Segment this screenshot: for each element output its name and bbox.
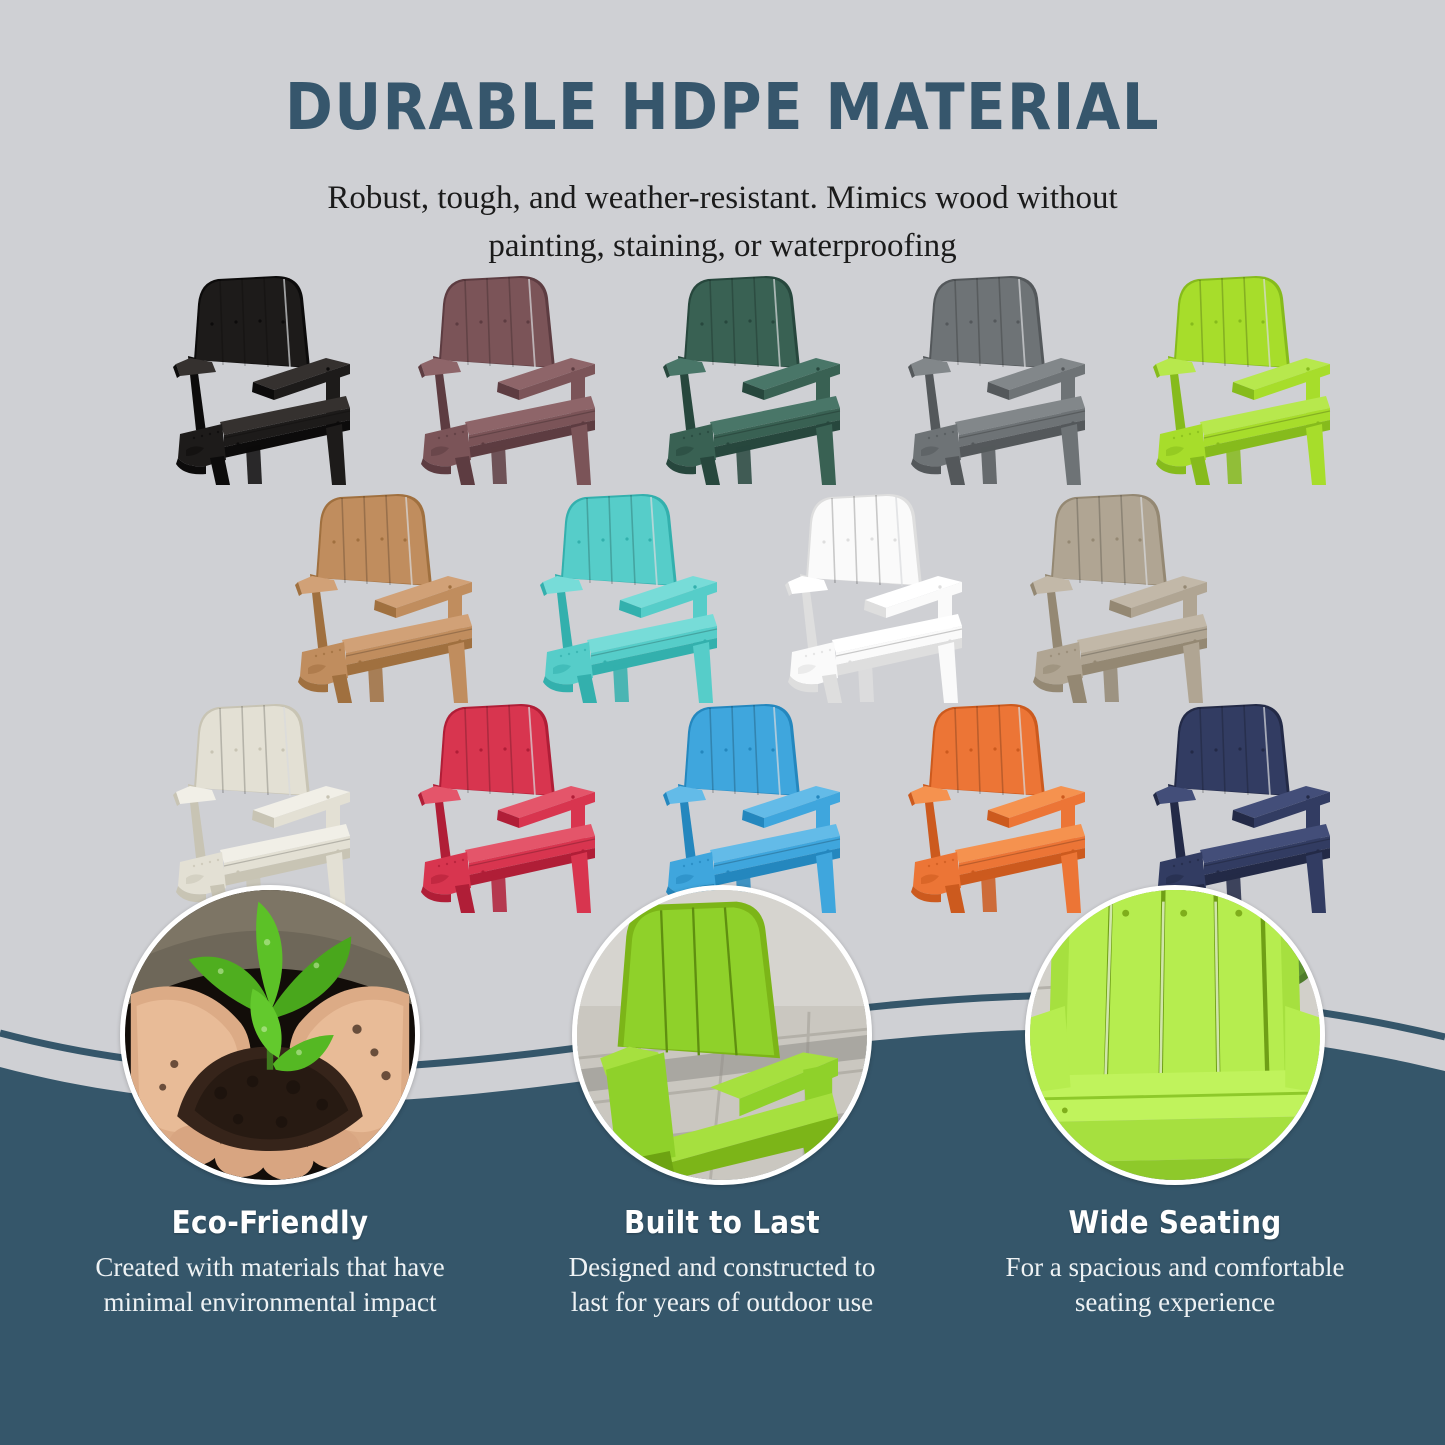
swatch-row-2 <box>0 490 1445 695</box>
chair-swatch-orange[interactable] <box>885 700 1130 915</box>
chair-swatch-ivory[interactable] <box>150 700 395 915</box>
swatch-row-1 <box>0 272 1445 487</box>
hands-holding-seedling-photo <box>125 890 415 1180</box>
feature-description-1: Created with materials that have minimal… <box>60 1250 480 1320</box>
feature-highlights: Eco-Friendly Created with materials that… <box>0 885 1445 1445</box>
subtitle-line-2: painting, staining, or waterproofing <box>223 223 1223 271</box>
feature-desc-line-2-2: last for years of outdoor use <box>530 1285 914 1320</box>
chair-illustration-crimson-red <box>395 700 640 915</box>
chair-swatch-weathered-taupe[interactable] <box>1007 490 1252 705</box>
chair-swatch-crimson-red[interactable] <box>395 700 640 915</box>
chair-illustration-weathered-taupe <box>1007 490 1252 705</box>
feature-desc-line-1-3: For a spacious and comfortable <box>983 1250 1367 1285</box>
chair-swatch-dark-green[interactable] <box>640 272 885 487</box>
lime-chair-on-patio-photo <box>577 890 867 1180</box>
chair-illustration-orange <box>885 700 1130 915</box>
feature-image-1 <box>120 885 420 1185</box>
chair-swatch-navy-blue[interactable] <box>1130 700 1375 915</box>
feature-desc-line-2-1: minimal environmental impact <box>78 1285 462 1320</box>
chair-illustration-gray <box>885 272 1130 487</box>
chair-swatch-turquoise[interactable] <box>517 490 762 705</box>
chair-illustration-navy-blue <box>1130 700 1375 915</box>
chair-illustration-ivory <box>150 700 395 915</box>
feature-title-1: Eco-Friendly <box>60 1205 480 1241</box>
feature-desc-line-2-3: seating experience <box>983 1285 1367 1320</box>
chair-illustration-lime-green <box>1130 272 1375 487</box>
chair-swatch-lime-green[interactable] <box>1130 272 1375 487</box>
page-title: DURABLE HDPE MATERIAL <box>0 76 1445 140</box>
chair-illustration-turquoise <box>517 490 762 705</box>
feature-title-2: Built to Last <box>512 1205 932 1241</box>
wide-seat-closeup-photo <box>1030 890 1320 1180</box>
chair-illustration-teak-tan <box>272 490 517 705</box>
chair-illustration-white <box>762 490 1007 705</box>
chair-swatch-white[interactable] <box>762 490 1007 705</box>
feature-desc-line-1-2: Designed and constructed to <box>530 1250 914 1285</box>
feature-image-2 <box>572 885 872 1185</box>
feature-wide-seating: Wide Seating For a spacious and comforta… <box>965 885 1385 1320</box>
chair-swatch-gray[interactable] <box>885 272 1130 487</box>
chair-illustration-black <box>150 272 395 487</box>
chair-swatch-sky-blue[interactable] <box>640 700 885 915</box>
chair-illustration-sky-blue <box>640 700 885 915</box>
swatch-row-3 <box>0 700 1445 915</box>
page-subtitle: Robust, tough, and weather-resistant. Mi… <box>223 175 1223 271</box>
feature-description-3: For a spacious and comfortable seating e… <box>965 1250 1385 1320</box>
feature-built-to-last: Built to Last Designed and constructed t… <box>512 885 932 1320</box>
feature-description-2: Designed and constructed to last for yea… <box>512 1250 932 1320</box>
feature-image-3 <box>1025 885 1325 1185</box>
chair-swatch-black[interactable] <box>150 272 395 487</box>
chair-swatch-brown[interactable] <box>395 272 640 487</box>
chair-illustration-dark-green <box>640 272 885 487</box>
feature-title-3: Wide Seating <box>965 1205 1385 1241</box>
chair-illustration-brown <box>395 272 640 487</box>
feature-eco-friendly: Eco-Friendly Created with materials that… <box>60 885 480 1320</box>
feature-desc-line-1-1: Created with materials that have <box>78 1250 462 1285</box>
infographic-canvas: DURABLE HDPE MATERIAL Robust, tough, and… <box>0 0 1445 1445</box>
chair-swatch-teak-tan[interactable] <box>272 490 517 705</box>
subtitle-line-1: Robust, tough, and weather-resistant. Mi… <box>223 175 1223 223</box>
